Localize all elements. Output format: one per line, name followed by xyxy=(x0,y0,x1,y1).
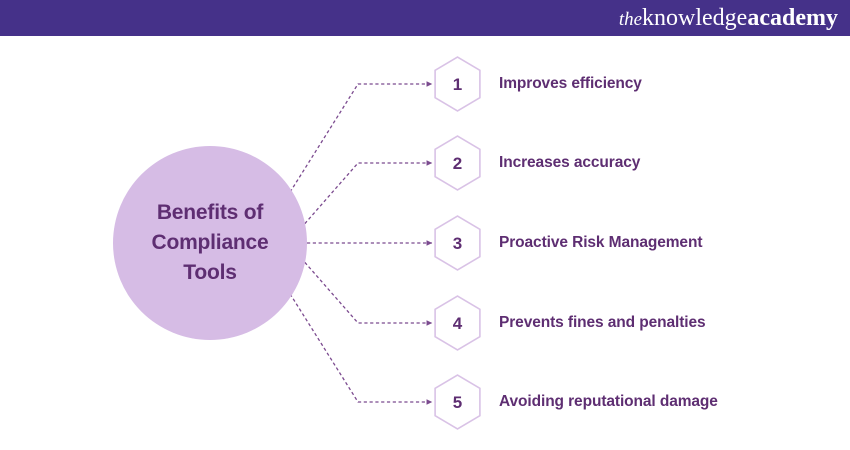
connector-line-5 xyxy=(287,289,432,402)
hexagon-badge-1: 1 xyxy=(434,56,481,112)
hexagon-number-1: 1 xyxy=(453,76,462,93)
hexagon-badge-2: 2 xyxy=(434,135,481,191)
brand-logo-the: the xyxy=(619,9,642,30)
benefit-label-5: Avoiding reputational damage xyxy=(499,393,718,411)
hexagon-number-2: 2 xyxy=(453,155,462,172)
benefit-label-4: Prevents fines and penalties xyxy=(499,314,706,332)
benefit-label-1: Improves efficiency xyxy=(499,75,642,93)
hexagon-number-4: 4 xyxy=(453,315,462,332)
hexagon-number-3: 3 xyxy=(453,235,462,252)
center-circle: Benefits of Compliance Tools xyxy=(113,146,307,340)
benefit-item-5[interactable]: 5 Avoiding reputational damage xyxy=(434,374,718,430)
hexagon-number-5: 5 xyxy=(453,394,462,411)
benefit-item-2[interactable]: 2 Increases accuracy xyxy=(434,135,640,191)
connector-line-2 xyxy=(301,163,432,228)
hexagon-badge-4: 4 xyxy=(434,295,481,351)
center-title: Benefits of Compliance Tools xyxy=(113,198,307,287)
connector-line-1 xyxy=(287,84,432,197)
benefit-label-3: Proactive Risk Management xyxy=(499,234,702,252)
connector-line-4 xyxy=(301,258,432,323)
benefit-item-1[interactable]: 1 Improves efficiency xyxy=(434,56,642,112)
benefit-label-2: Increases accuracy xyxy=(499,154,640,172)
brand-logo: theknowledgeacademy xyxy=(619,6,838,30)
benefit-item-3[interactable]: 3 Proactive Risk Management xyxy=(434,215,702,271)
hexagon-badge-3: 3 xyxy=(434,215,481,271)
brand-logo-academy: academy xyxy=(747,5,838,31)
benefit-item-4[interactable]: 4 Prevents fines and penalties xyxy=(434,295,706,351)
diagram-stage: Benefits of Compliance Tools 1 Improves … xyxy=(0,36,850,450)
hexagon-badge-5: 5 xyxy=(434,374,481,430)
brand-logo-knowledge: knowledge xyxy=(642,5,747,31)
infographic-canvas: theknowledgeacademy Benefits of Complian… xyxy=(0,0,850,450)
header-bar: theknowledgeacademy xyxy=(0,0,850,36)
